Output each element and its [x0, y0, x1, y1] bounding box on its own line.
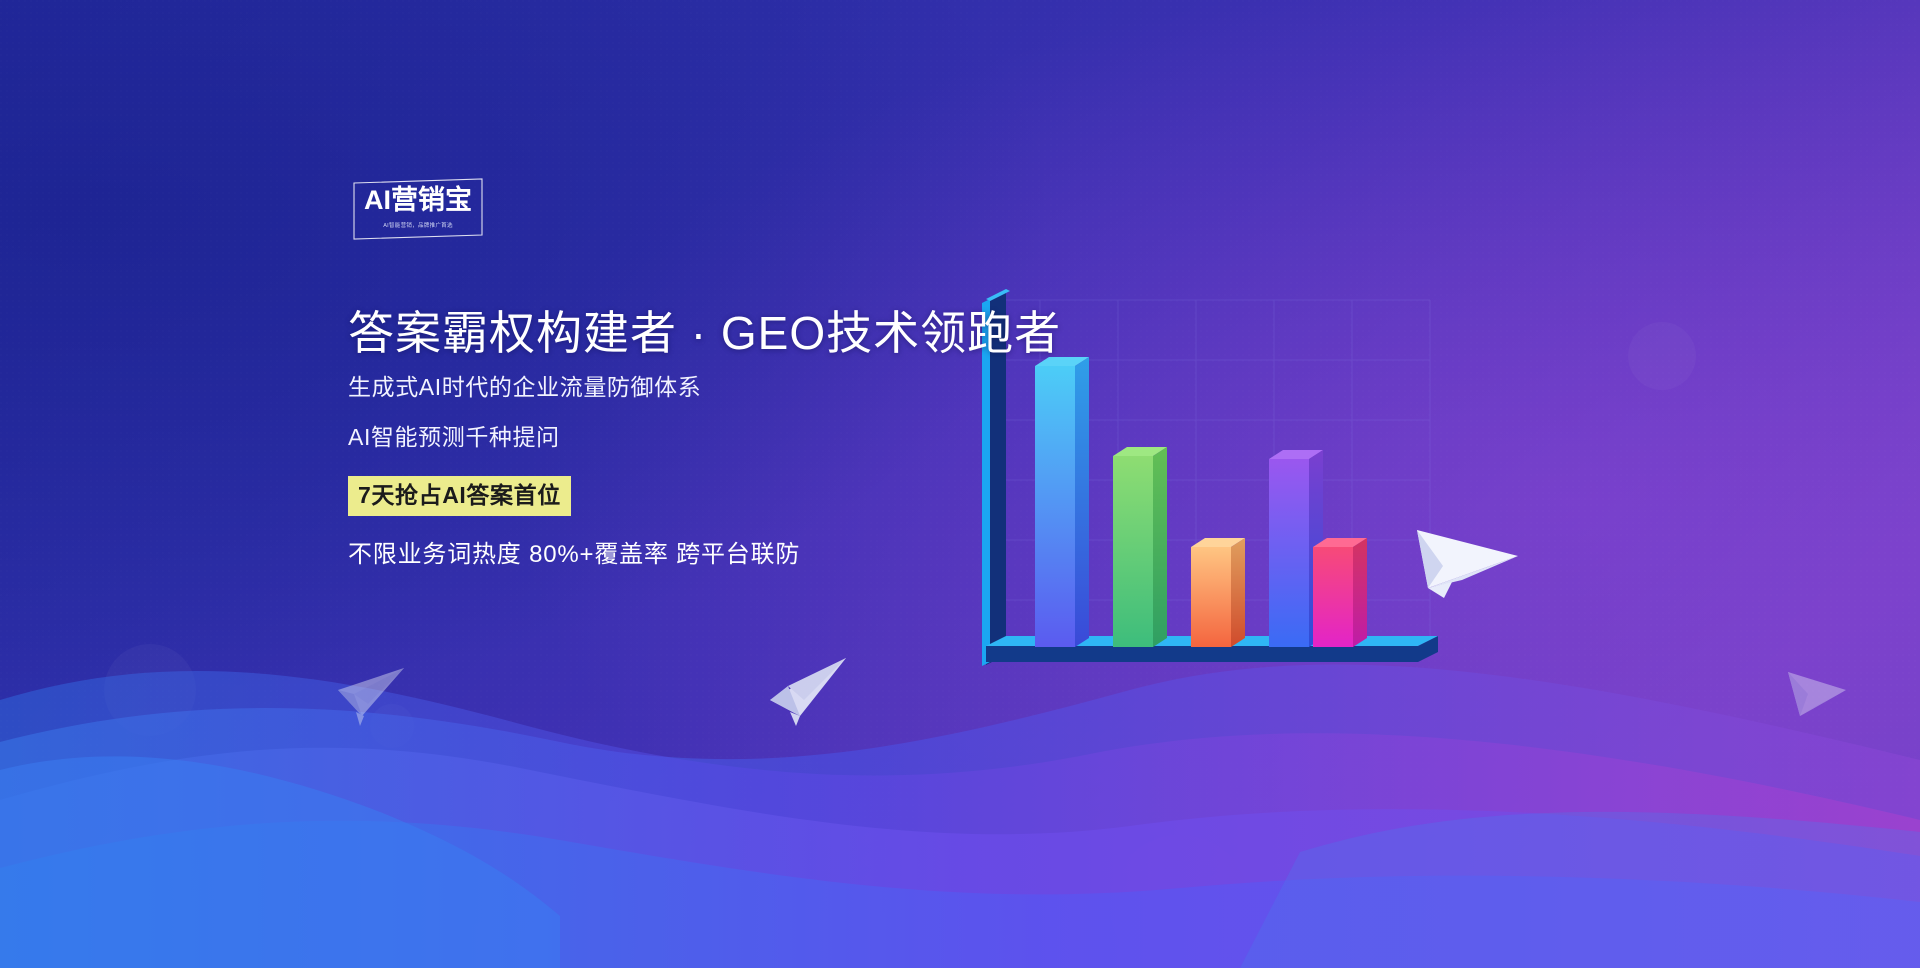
hero-copy: 答案霸权构建者 · GEO技术领跑者 生成式AI时代的企业流量防御体系 AI智能… — [348, 306, 1048, 567]
paper-plane-center-icon — [770, 658, 846, 726]
hero-banner: AI营销宝 AI智能营销，品牌推广首选 答案霸权构建者 · GEO技术领跑者 生… — [0, 0, 1920, 968]
paper-plane-left-icon — [338, 668, 404, 726]
hero-highlight-badge: 7天抢占AI答案首位 — [348, 476, 571, 516]
hero-metrics: 不限业务词热度 80%+覆盖率 跨平台联防 — [348, 543, 1048, 567]
paper-plane-chart-icon — [1417, 530, 1518, 598]
hero-subline-2: AI智能预测千种提问 — [348, 426, 1048, 449]
brand-logo[interactable]: AI营销宝 AI智能营销，品牌推广首选 — [352, 178, 484, 240]
hero-subline-1: 生成式AI时代的企业流量防御体系 — [348, 376, 1048, 399]
hero-highlight-wrap: 7天抢占AI答案首位 — [348, 476, 1048, 516]
logo-tagline: AI智能营销，品牌推广首选 — [357, 220, 478, 228]
logo-wordmark: AI营销宝 — [352, 187, 484, 214]
hero-headline: 答案霸权构建者 · GEO技术领跑者 — [348, 306, 1048, 360]
paper-plane-right-icon — [1788, 672, 1846, 716]
